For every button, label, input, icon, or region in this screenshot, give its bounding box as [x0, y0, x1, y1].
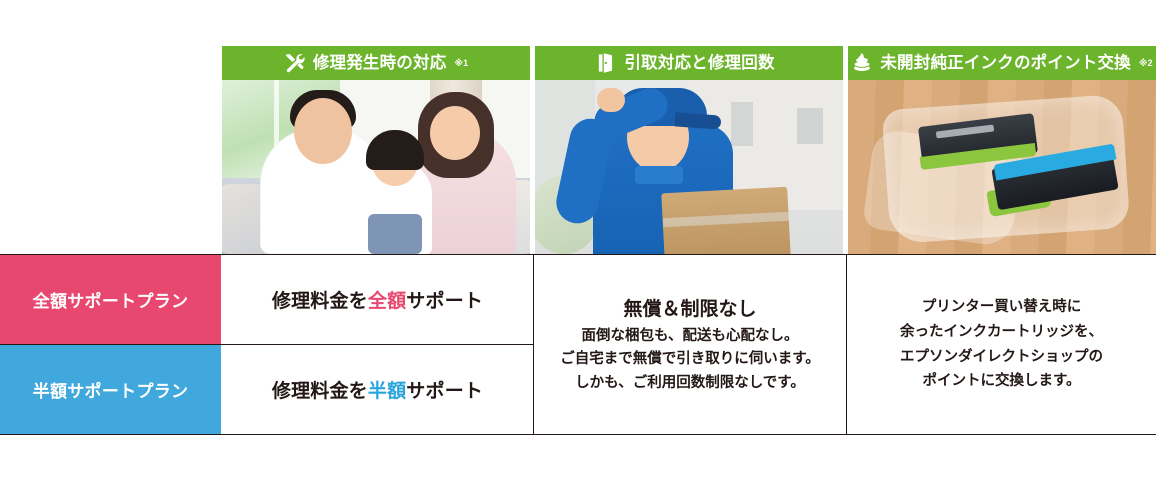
- pickup-cell-line-3: しかも、ご利用回数制限なしです。: [575, 372, 805, 395]
- pickup-cell-headline: 無償＆制限なし: [623, 294, 756, 321]
- pickup-cell-line-1: 面倒な梱包も、配送も心配なし。: [581, 325, 798, 348]
- pickup-cell: 無償＆制限なし 面倒な梱包も、配送も心配なし。 ご自宅まで無償で引き取りに伺いま…: [534, 255, 846, 434]
- column-header-ink-footnote: ※2: [1139, 59, 1153, 68]
- open-door-pickup-icon: [595, 52, 617, 74]
- repair-full-suffix: サポート: [406, 291, 483, 312]
- repair-cell-full-text: 修理料金を全額サポート: [272, 286, 483, 313]
- column-header-pickup-label: 引取対応と修理回数: [624, 55, 774, 72]
- support-plan-comparison-table: 修理発生時の対応 ※1 引取対応と修理回数: [0, 0, 1156, 480]
- repair-cell-half-text: 修理料金を半額サポート: [272, 376, 483, 403]
- ink-cell-line-2: 余ったインクカートリッジを、: [900, 320, 1103, 345]
- ink-cell-line-1: プリンター買い替え時に: [922, 295, 1082, 320]
- repair-half-prefix: 修理料金を: [272, 381, 368, 402]
- column-header-ink-label: 未開封純正インクのポイント交換: [880, 55, 1131, 72]
- plan-label-full-support-text: 全額サポートプラン: [33, 287, 189, 312]
- wrench-screwdriver-icon: [284, 52, 306, 74]
- ink-cell: プリンター買い替え時に 余ったインクカートリッジを、 エプソンダイレクトショップ…: [847, 255, 1156, 434]
- ink-cartridge-stack-icon: [851, 52, 873, 74]
- plan-label-half-support: 半額サポートプラン: [0, 345, 221, 434]
- ink-cell-line-4: ポイントに交換します。: [922, 369, 1080, 394]
- column-header-repair: 修理発生時の対応 ※1: [222, 46, 530, 80]
- repair-full-highlight: 全額: [368, 291, 406, 312]
- column-header-repair-footnote: ※1: [454, 59, 468, 68]
- family-on-sofa-photo: [222, 80, 530, 254]
- header-bar-row: 修理発生時の対応 ※1 引取対応と修理回数: [0, 46, 1156, 80]
- plan-label-half-support-text: 半額サポートプラン: [33, 377, 189, 402]
- delivery-staff-with-box-photo: [535, 80, 843, 254]
- repair-cell-half: 修理料金を半額サポート: [222, 345, 533, 434]
- repair-half-suffix: サポート: [406, 381, 483, 402]
- repair-half-highlight: 半額: [368, 381, 406, 402]
- column-header-repair-label: 修理発生時の対応: [313, 55, 447, 72]
- column-header-pickup: 引取対応と修理回数: [535, 46, 843, 80]
- repair-cell-full: 修理料金を全額サポート: [222, 255, 533, 344]
- grid-rule-bottom: [0, 434, 1156, 435]
- pickup-cell-line-2: ご自宅まで無償で引き取りに伺います。: [560, 348, 820, 371]
- plan-label-full-support: 全額サポートプラン: [0, 255, 221, 344]
- sealed-ink-cartridges-photo: [848, 80, 1156, 254]
- ink-cell-line-3: エプソンダイレクトショップの: [900, 345, 1103, 370]
- comparison-grid: 全額サポートプラン 半額サポートプラン 修理料金を全額サポート 修理料金を半額サ…: [0, 254, 1156, 435]
- photo-row: [0, 80, 1156, 254]
- repair-full-prefix: 修理料金を: [272, 291, 368, 312]
- column-header-ink: 未開封純正インクのポイント交換 ※2: [848, 46, 1156, 80]
